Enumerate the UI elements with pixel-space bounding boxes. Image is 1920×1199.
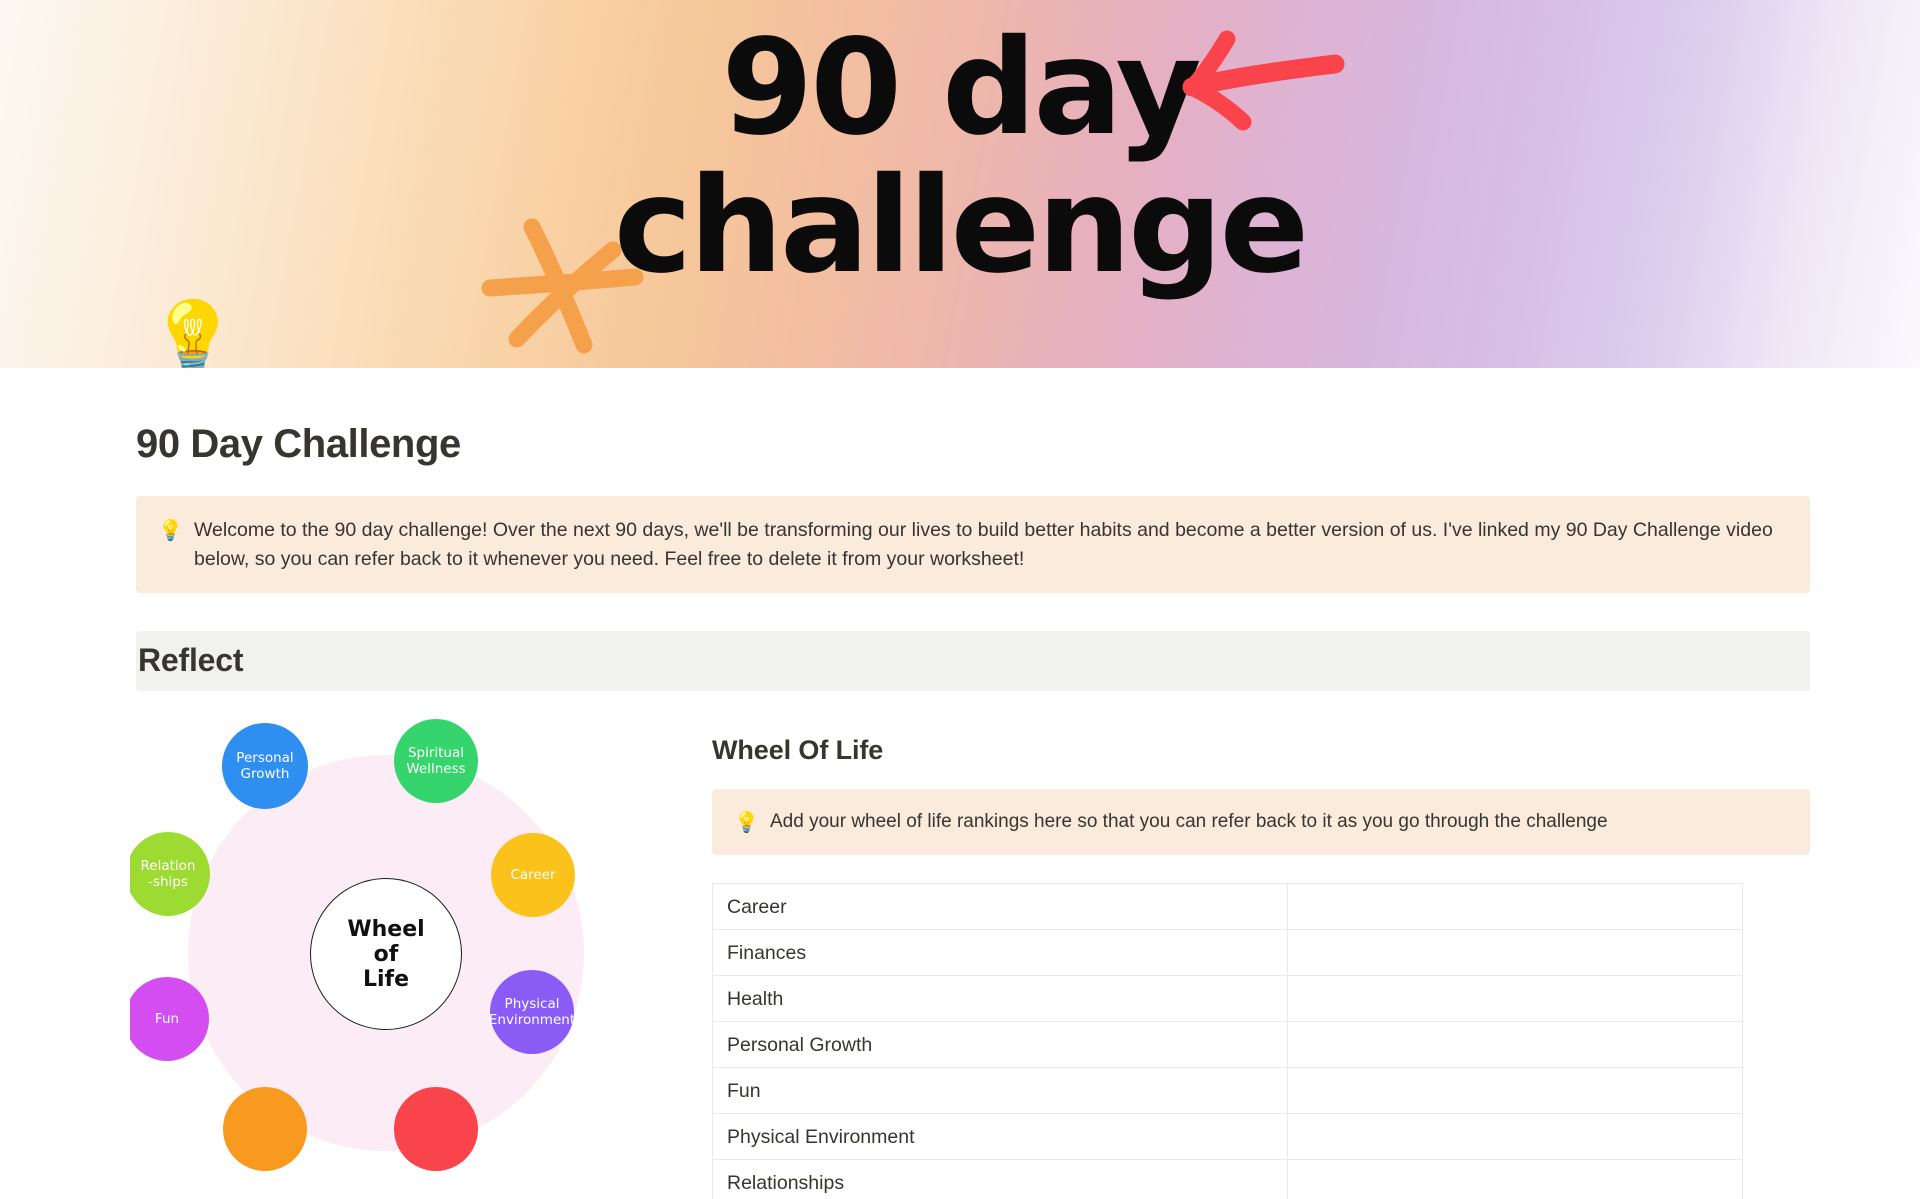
reflect-heading: Reflect	[138, 639, 1810, 681]
lightbulb-icon: 💡	[158, 516, 180, 544]
table-cell-category[interactable]: Personal Growth	[713, 1022, 1288, 1068]
wheel-of-life-callout-text: Add your wheel of life rankings here so …	[770, 808, 1608, 835]
wheel-of-life-callout: 💡 Add your wheel of life rankings here s…	[712, 789, 1810, 855]
wheel-bubble-physical-environment: Physical Environment	[490, 970, 574, 1054]
table-cell-ranking[interactable]	[1288, 1022, 1743, 1068]
table-cell-ranking[interactable]	[1288, 884, 1743, 930]
table-cell-category[interactable]: Health	[713, 976, 1288, 1022]
wheel-bubble-career: Career	[491, 833, 575, 917]
wheel-hub: Wheel of Life	[310, 878, 462, 1030]
intro-callout-text: Welcome to the 90 day challenge! Over th…	[194, 516, 1784, 573]
table-cell-category[interactable]: Finances	[713, 930, 1288, 976]
table-row: Health	[713, 976, 1743, 1022]
table-row: Fun	[713, 1068, 1743, 1114]
wheel-hub-label: Wheel of Life	[347, 917, 424, 992]
wheel-column: Personal Growth Spiritual Wellness Caree…	[136, 715, 666, 1199]
wheel-of-life-table-body: CareerFinancesHealthPersonal GrowthFunPh…	[713, 884, 1743, 1199]
red-arrow-icon	[1180, 30, 1350, 140]
table-cell-ranking[interactable]	[1288, 1068, 1743, 1114]
table-cell-ranking[interactable]	[1288, 976, 1743, 1022]
wheel-bubble-bottom-left-orange	[223, 1087, 307, 1171]
wheel-bubble-bottom-right-red	[394, 1087, 478, 1171]
wheel-bubble-personal-growth: Personal Growth	[222, 723, 308, 809]
page-lightbulb-icon: 💡	[148, 298, 228, 368]
cover-banner: 90 day challenge 💡	[0, 0, 1920, 368]
page-body: 90 Day Challenge 💡 Welcome to the 90 day…	[0, 420, 1920, 1199]
table-row: Relationships	[713, 1160, 1743, 1199]
wheel-of-life-heading: Wheel Of Life	[712, 733, 1810, 767]
table-cell-category[interactable]: Career	[713, 884, 1288, 930]
wheel-of-life-table: CareerFinancesHealthPersonal GrowthFunPh…	[712, 883, 1743, 1199]
lightbulb-icon: 💡	[734, 808, 756, 836]
cover-title-line2: challenge	[0, 160, 1920, 292]
table-cell-category[interactable]: Physical Environment	[713, 1114, 1288, 1160]
two-column-layout: Personal Growth Spiritual Wellness Caree…	[136, 715, 1810, 1199]
wheel-of-life-diagram: Personal Growth Spiritual Wellness Caree…	[130, 715, 660, 1195]
intro-callout: 💡 Welcome to the 90 day challenge! Over …	[136, 496, 1810, 593]
table-row: Finances	[713, 930, 1743, 976]
table-cell-ranking[interactable]	[1288, 1160, 1743, 1199]
table-cell-category[interactable]: Relationships	[713, 1160, 1288, 1199]
cover-title: 90 day challenge	[0, 22, 1920, 292]
table-cell-category[interactable]: Fun	[713, 1068, 1288, 1114]
wheel-of-life-column: Wheel Of Life 💡 Add your wheel of life r…	[712, 715, 1810, 1199]
content-wrapper: 90 Day Challenge 💡 Welcome to the 90 day…	[110, 420, 1810, 1199]
wheel-bubble-relationships: Relation -ships	[130, 832, 210, 916]
page-title: 90 Day Challenge	[136, 420, 1810, 468]
wheel-bubble-fun: Fun	[130, 977, 209, 1061]
table-cell-ranking[interactable]	[1288, 930, 1743, 976]
wheel-bubble-spiritual-wellness: Spiritual Wellness	[394, 719, 478, 803]
table-row: Physical Environment	[713, 1114, 1743, 1160]
table-row: Personal Growth	[713, 1022, 1743, 1068]
reflect-section-band: Reflect	[136, 631, 1810, 691]
cover-title-line1: 90 day	[0, 22, 1920, 154]
orange-star-icon	[480, 215, 650, 355]
table-row: Career	[713, 884, 1743, 930]
table-cell-ranking[interactable]	[1288, 1114, 1743, 1160]
